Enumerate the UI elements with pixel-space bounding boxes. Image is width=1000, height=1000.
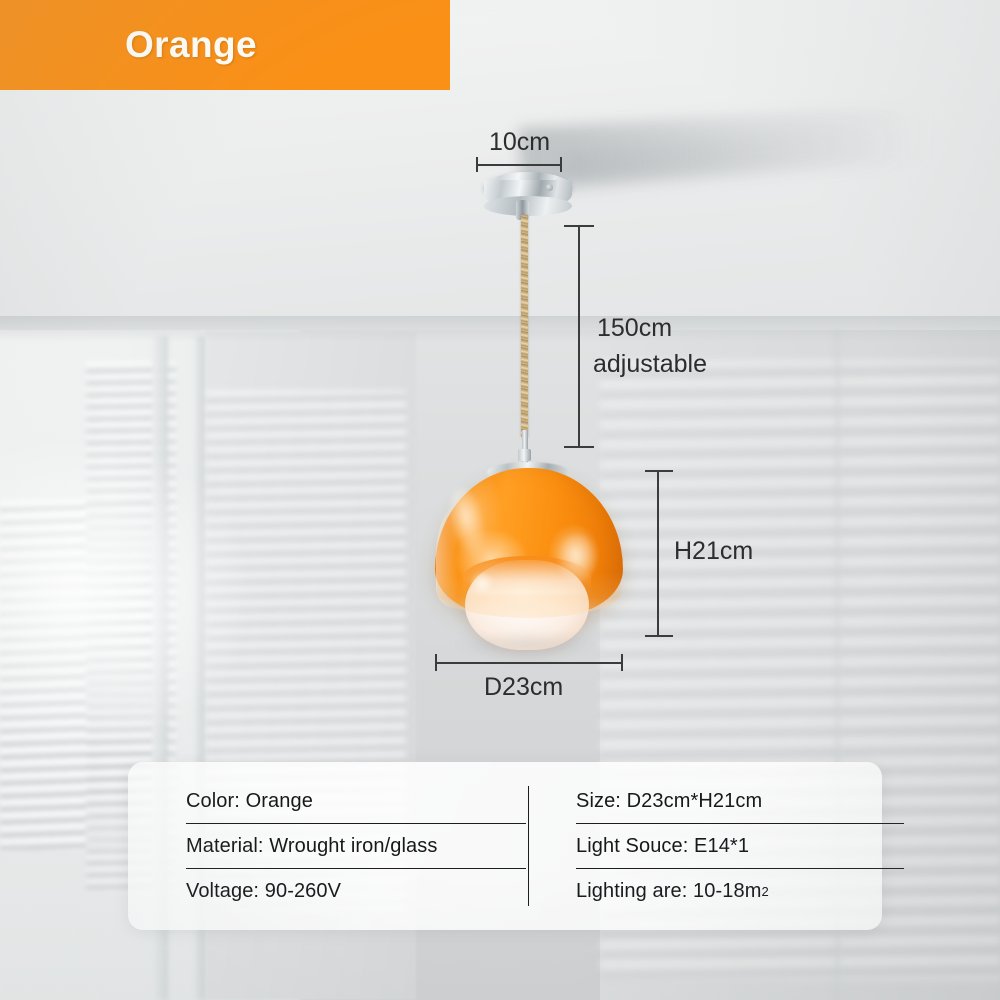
product-image-stage: Orange 10cm 150cm adjustable	[0, 0, 1000, 1000]
image-vignette	[0, 0, 1000, 1000]
